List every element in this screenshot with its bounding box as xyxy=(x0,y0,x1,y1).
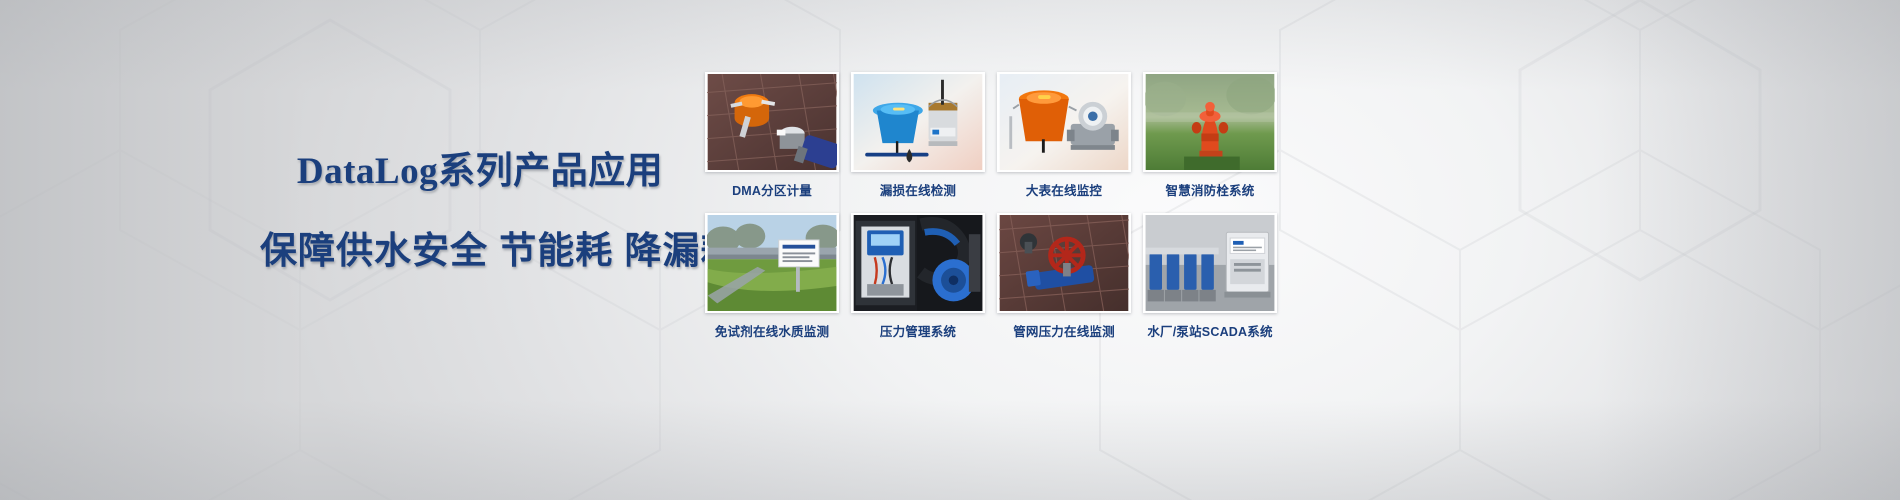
product-card[interactable]: 免试剂在线水质监测 xyxy=(705,213,839,340)
product-card[interactable]: 大表在线监控 xyxy=(997,72,1131,199)
headline-line-1: DataLog系列产品应用 xyxy=(260,140,700,194)
product-card[interactable]: 漏损在线检测 xyxy=(851,72,985,199)
product-card[interactable]: 压力管理系统 xyxy=(851,213,985,340)
product-card[interactable]: 水厂/泵站SCADA系统 xyxy=(1143,213,1277,340)
product-card[interactable]: 管网压力在线监测 xyxy=(997,213,1131,340)
pipeline-pressure-monitoring-photo xyxy=(997,213,1131,313)
product-caption: 免试剂在线水质监测 xyxy=(715,321,829,340)
product-caption: DMA分区计量 xyxy=(732,180,812,199)
product-card-grid: DMA分区计量 xyxy=(705,72,1277,340)
product-caption: 压力管理系统 xyxy=(880,321,956,340)
product-caption: 智慧消防栓系统 xyxy=(1166,180,1255,199)
smart-hydrant-system-photo xyxy=(1143,72,1277,172)
product-caption: 漏损在线检测 xyxy=(880,180,956,199)
dma-zone-metering-photo xyxy=(705,72,839,172)
waterworks-scada-photo xyxy=(1143,213,1277,313)
headline-line-2: 保障供水安全 节能耗 降漏耗 xyxy=(260,220,700,274)
product-card[interactable]: 智慧消防栓系统 xyxy=(1143,72,1277,199)
headline-block: DataLog系列产品应用 保障供水安全 节能耗 降漏耗 xyxy=(260,140,700,274)
leak-online-detection-photo xyxy=(851,72,985,172)
reagentless-water-quality-photo xyxy=(705,213,839,313)
product-caption: 大表在线监控 xyxy=(1026,180,1102,199)
product-caption: 水厂/泵站SCADA系统 xyxy=(1147,321,1272,340)
pressure-management-system-photo xyxy=(851,213,985,313)
product-card[interactable]: DMA分区计量 xyxy=(705,72,839,199)
product-application-banner: DataLog系列产品应用 保障供水安全 节能耗 降漏耗 xyxy=(0,0,1900,500)
large-meter-monitoring-photo xyxy=(997,72,1131,172)
product-caption: 管网压力在线监测 xyxy=(1013,321,1115,340)
